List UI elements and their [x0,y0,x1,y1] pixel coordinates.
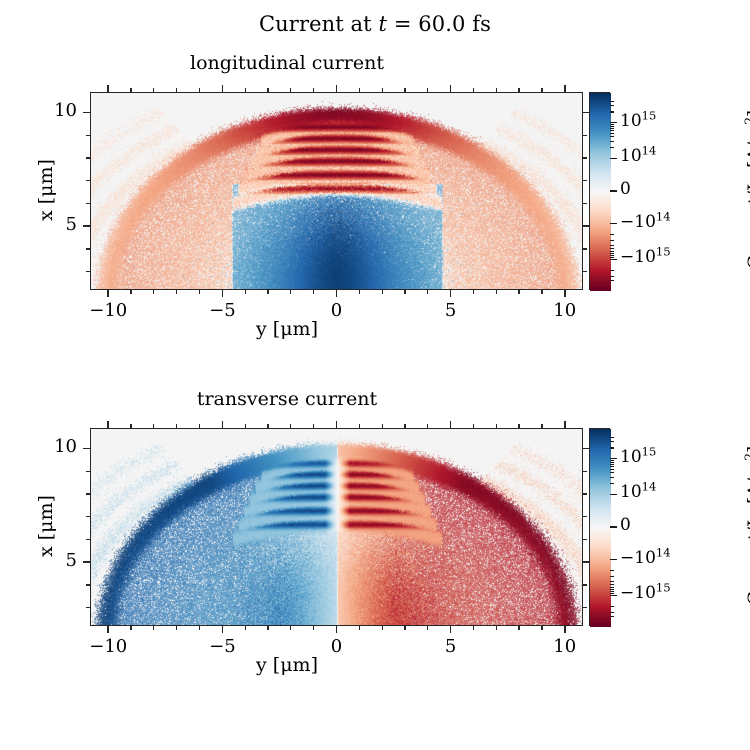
colorbar-tick-major [610,158,617,160]
colorbar-tick-minor [610,280,614,281]
x-tick-minor [496,290,497,294]
y-tick-minor [86,584,90,585]
x-tick-minor [404,424,405,428]
colorbar-tick-minor [610,245,614,246]
colorbar-tick-minor [610,270,614,271]
x-tick-major [222,626,224,633]
x-tick-major [107,290,109,297]
colorbar-tick-minor [610,124,614,125]
colorbar-label-text: Current/Jy [A/m [745,461,750,605]
y-tick-major [583,448,590,450]
y-tick-minor [583,180,587,181]
colorbar-tick-minor [610,101,614,102]
y-tick-minor [86,539,90,540]
x-tick-major [564,626,566,633]
colorbar-label-exponent: 2 [743,117,750,125]
x-tick-minor [359,290,360,294]
x-tick-major [222,421,224,428]
colorbar-tick-minor [610,240,614,241]
colorbar-tick-minor [610,584,614,585]
colorbar-tick-label: −1015 [620,247,671,267]
x-tick-minor [404,290,405,294]
x-tick-minor [130,290,131,294]
x-tick-minor [199,626,200,630]
panel-title-transverse: transverse current [0,388,662,410]
y-tick-minor [86,516,90,517]
colorbar-tick-minor [610,464,614,465]
x-tick-minor [153,424,154,428]
x-tick-major [107,85,109,92]
y-tick-minor [583,135,587,136]
x-tick-minor [382,424,383,428]
colorbar-tick-minor [610,477,614,478]
colorbar-tick-minor [610,141,614,142]
figure-suptitle: Current at t = 60.0 fs [0,12,750,36]
x-tick-minor [382,290,383,294]
y-tick-major [83,225,90,227]
x-tick-minor [245,290,246,294]
colorbar-tick-label: −1014 [620,548,671,568]
panel-title-longitudinal: longitudinal current [0,52,662,74]
x-tick-minor [382,626,383,630]
x-tick-major [450,85,452,92]
x-tick-minor [518,424,519,428]
x-tick-major [564,85,566,92]
colorbar-tick-minor [610,276,614,277]
colorbar-tick-major [610,494,617,496]
x-tick-minor [541,626,542,630]
x-tick-major [222,290,224,297]
colorbar-tick-minor [610,253,614,254]
y-tick-minor [86,493,90,494]
colorbar-tick-minor [610,128,614,129]
x-tick-minor [313,424,314,428]
x-tick-minor [473,424,474,428]
x-tick-minor [473,290,474,294]
x-tick-minor [359,88,360,92]
x-tick-minor [313,290,314,294]
colorbar-tick-label: 1014 [620,482,656,502]
x-tick-minor [541,88,542,92]
x-tick-minor [313,88,314,92]
colorbar-gradient-transverse [590,429,611,627]
colorbar-tick-minor [610,130,614,131]
y-tick-major [83,448,90,450]
x-tick-minor [245,424,246,428]
colorbar-tick-major [610,526,617,528]
x-tick-minor [404,88,405,92]
x-tick-minor [267,424,268,428]
figure-canvas: Current at t = 60.0 fs longitudinal curr… [0,0,750,750]
y-tick-minor [86,248,90,249]
x-tick-major [107,421,109,428]
colorbar-tick-minor [610,136,614,137]
y-axis-label-longitudinal: x [μm] [35,130,57,250]
colorbar-tick-label: 0 [620,515,631,535]
plot-area-transverse[interactable] [90,428,583,626]
x-tick-minor [427,626,428,630]
x-tick-minor [496,88,497,92]
colorbar-tick-label: 1015 [620,111,656,131]
x-tick-major [450,290,452,297]
y-tick-minor [86,157,90,158]
x-tick-minor [427,290,428,294]
colorbar-gradient-longitudinal [590,93,611,291]
x-tick-minor [473,88,474,92]
y-axis-label-transverse: x [μm] [35,466,57,586]
x-tick-minor [153,88,154,92]
colorbar-tick-major [610,559,617,561]
colorbar-label-transverse: Current/Jy [A/m2] [745,426,750,626]
suptitle-prefix: Current at [259,12,378,36]
colorbar-tick-minor [610,447,614,448]
x-tick-major [107,626,109,633]
x-tick-minor [267,290,268,294]
colorbar-tick-major [610,595,617,597]
colorbar-label-tail: ] [745,446,750,453]
colorbar-tick-minor [610,593,614,594]
x-tick-minor [541,424,542,428]
y-tick-major [583,561,590,563]
colorbar-tick-minor [610,581,614,582]
x-tick-minor [404,626,405,630]
colorbar-tick-minor [610,612,614,613]
x-tick-major [564,290,566,297]
colorbar-longitudinal[interactable] [589,92,610,290]
colorbar-tick-minor [610,606,614,607]
y-tick-minor [583,203,587,204]
colorbar-tick-minor [610,576,614,577]
y-tick-minor [583,584,587,585]
colorbar-tick-minor [610,126,614,127]
colorbar-tick-minor [610,462,614,463]
colorbar-tick-label: 0 [620,179,631,199]
x-tick-minor [130,424,131,428]
x-tick-major [336,626,338,633]
colorbar-tick-minor [610,234,614,235]
x-tick-minor [518,88,519,92]
colorbar-tick-major [610,259,617,261]
colorbar-tick-minor [610,441,614,442]
colorbar-tick-minor [610,587,614,588]
x-tick-minor [359,626,360,630]
colorbar-tick-minor [610,437,614,438]
y-tick-major [583,225,590,227]
x-tick-minor [199,88,200,92]
y-tick-minor [583,493,587,494]
colorbar-tick-minor [610,466,614,467]
x-tick-major [222,85,224,92]
scatter-canvas-longitudinal [91,93,583,290]
y-tick-minor [583,157,587,158]
x-tick-minor [518,290,519,294]
x-tick-minor [313,626,314,630]
y-tick-minor [86,180,90,181]
x-tick-minor [176,626,177,630]
y-tick-minor [583,607,587,608]
colorbar-tick-minor [610,251,614,252]
colorbar-tick-minor [610,472,614,473]
y-tick-minor [86,607,90,608]
y-tick-minor [86,471,90,472]
colorbar-tick-minor [610,133,614,134]
colorbar-tick-minor [610,589,614,590]
panel-transverse: transverse current x [μm] y [μm] Current… [0,388,750,698]
colorbar-tick-major [610,190,617,192]
y-tick-minor [86,271,90,272]
x-tick-minor [496,424,497,428]
x-tick-minor [176,88,177,92]
x-tick-minor [518,626,519,630]
y-tick-minor [583,248,587,249]
plot-area-longitudinal[interactable] [90,92,583,290]
x-tick-minor [199,290,200,294]
scatter-canvas-transverse [91,429,583,626]
x-tick-minor [382,88,383,92]
x-tick-major [336,421,338,428]
y-tick-major [583,112,590,114]
x-tick-minor [130,88,131,92]
suptitle-variable: t [379,12,388,36]
colorbar-tick-minor [610,147,614,148]
colorbar-tick-minor [610,248,614,249]
x-tick-minor [427,424,428,428]
x-axis-label-transverse: y [μm] [0,654,662,676]
x-tick-minor [496,626,497,630]
colorbar-tick-label: 1015 [620,447,656,467]
x-tick-minor [290,290,291,294]
colorbar-label-longitudinal: Current/Jx [A/m2] [745,90,750,290]
x-tick-minor [153,290,154,294]
y-tick-minor [583,471,587,472]
colorbar-tick-minor [610,257,614,258]
y-tick-minor [583,516,587,517]
colorbar-tick-minor [610,105,614,106]
x-tick-minor [267,88,268,92]
x-tick-minor [541,290,542,294]
y-tick-minor [583,271,587,272]
colorbar-tick-minor [610,616,614,617]
x-tick-minor [290,424,291,428]
colorbar-tick-minor [610,111,614,112]
x-tick-major [450,421,452,428]
suptitle-equation: = 60.0 fs [387,12,491,36]
x-tick-minor [245,88,246,92]
colorbar-label-exponent: 2 [743,453,750,461]
colorbar-tick-label: −1014 [620,212,671,232]
x-tick-minor [153,626,154,630]
x-tick-minor [130,626,131,630]
colorbar-tick-label: 1014 [620,146,656,166]
y-tick-minor [86,203,90,204]
y-tick-major [83,112,90,114]
x-tick-minor [290,88,291,92]
x-tick-major [336,290,338,297]
colorbar-tick-label: −1015 [620,583,671,603]
colorbar-label-text: Current/Jx [A/m [745,125,750,269]
colorbar-tick-major [610,223,617,225]
x-tick-minor [290,626,291,630]
x-tick-minor [245,626,246,630]
y-tick-minor [86,135,90,136]
x-tick-major [336,85,338,92]
x-tick-minor [267,626,268,630]
colorbar-transverse[interactable] [589,428,610,626]
colorbar-tick-minor [610,483,614,484]
y-tick-major [83,561,90,563]
colorbar-tick-minor [610,460,614,461]
y-tick-minor [583,539,587,540]
x-tick-minor [359,424,360,428]
x-tick-minor [176,424,177,428]
x-tick-minor [199,424,200,428]
panel-longitudinal: longitudinal current x [μm] y [μm] Curre… [0,52,750,362]
x-tick-minor [473,626,474,630]
x-tick-major [450,626,452,633]
colorbar-label-tail: ] [745,110,750,117]
x-tick-minor [427,88,428,92]
x-tick-major [564,421,566,428]
colorbar-tick-minor [610,570,614,571]
x-tick-minor [176,290,177,294]
x-axis-label-longitudinal: y [μm] [0,318,662,340]
colorbar-tick-minor [610,469,614,470]
